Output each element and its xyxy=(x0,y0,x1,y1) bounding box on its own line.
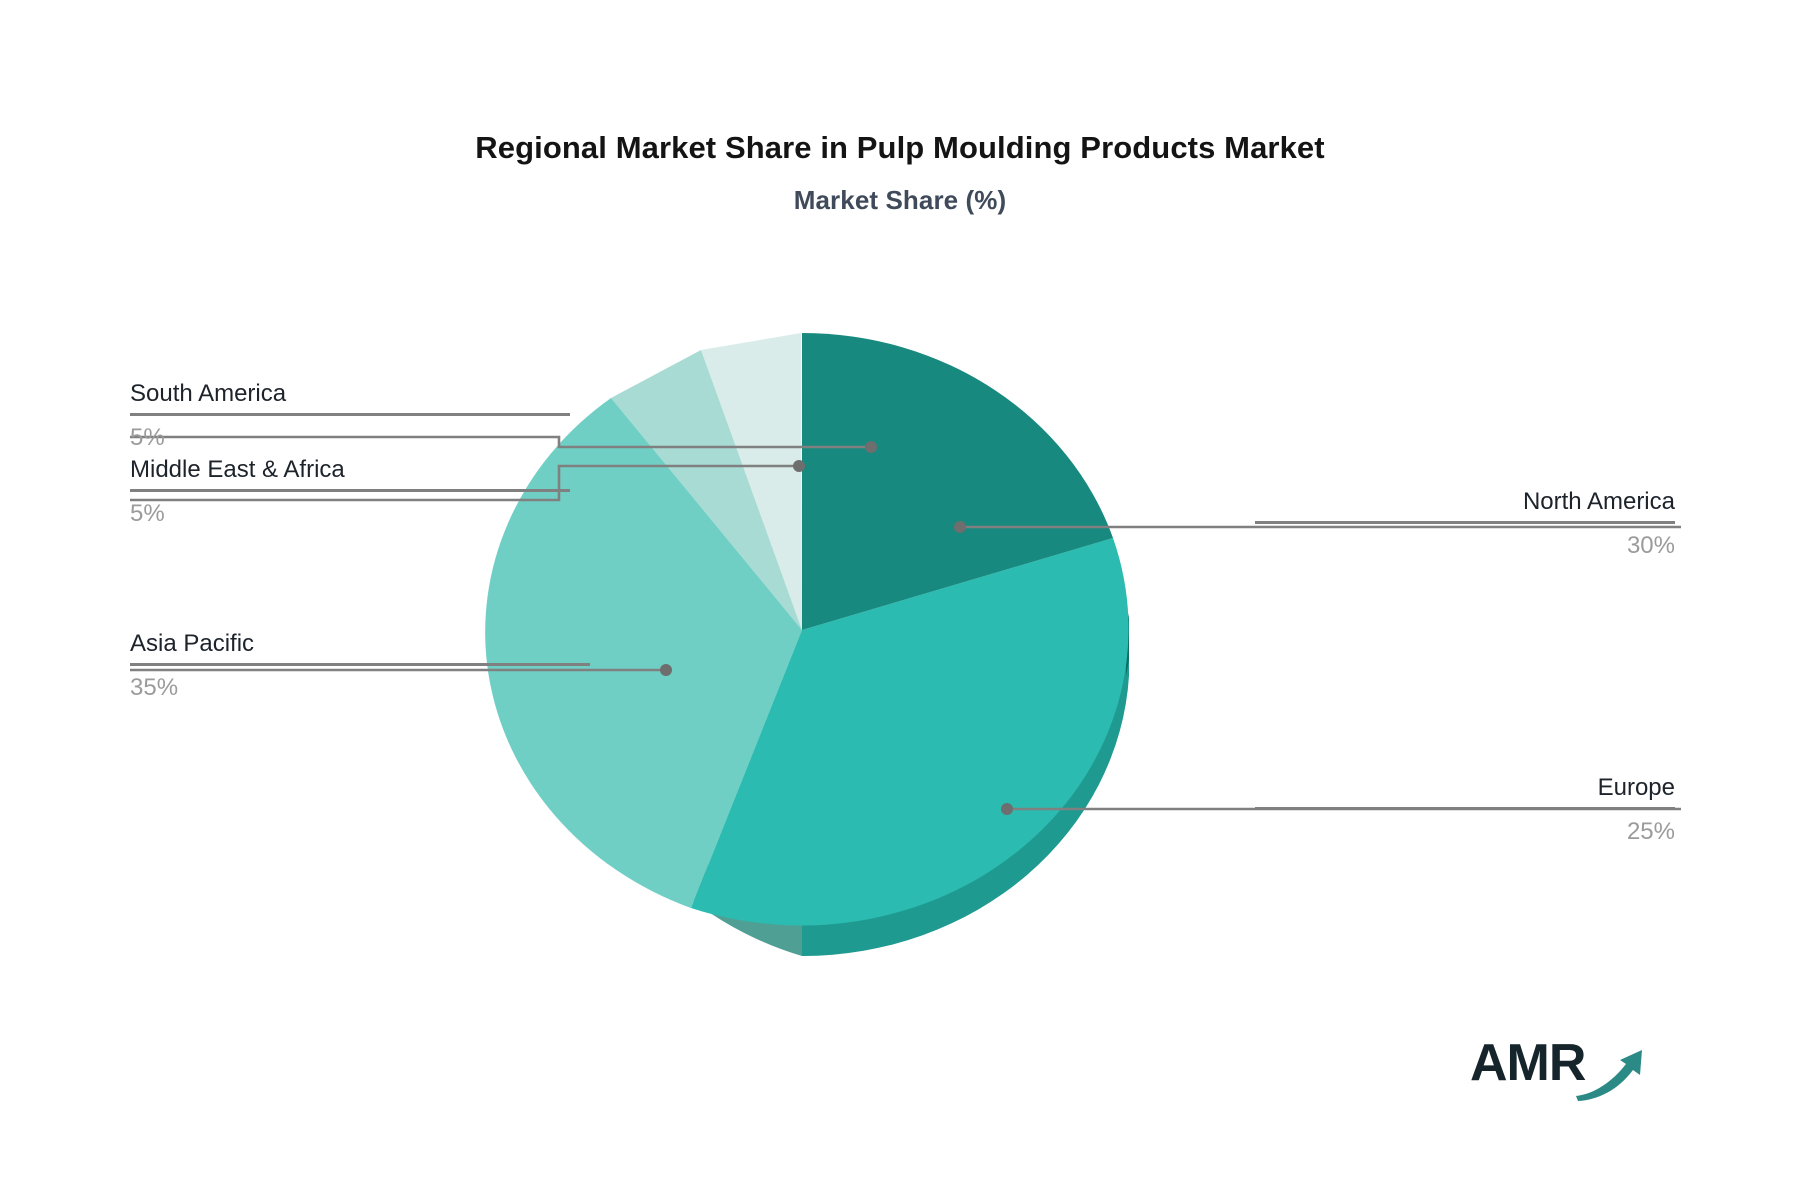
pie-slice-north-america xyxy=(802,333,1113,630)
callout-label-europe: Europe xyxy=(1255,774,1675,802)
callout-label-asia-pacific: Asia Pacific xyxy=(130,630,590,658)
callout-value-north-america: 30% xyxy=(1255,532,1675,560)
amr-logo-text: AMR xyxy=(1470,1034,1586,1092)
pie-slice-europe xyxy=(691,538,1129,925)
pie-side-asia-pacific xyxy=(577,630,802,956)
chart-canvas: Regional Market Share in Pulp Moulding P… xyxy=(0,0,1800,1196)
callout-label-south-america: South America xyxy=(130,380,570,408)
callout-rule-middle-east-africa xyxy=(130,489,570,492)
callout-europe: Europe 25% xyxy=(1255,774,1675,847)
callout-north-america: North America 30% xyxy=(1255,488,1675,561)
callout-south-america: South America 5% xyxy=(130,380,570,453)
callout-value-south-america: 5% xyxy=(130,424,570,452)
pie-slice-middle-east-africa xyxy=(611,350,802,630)
leader-dot-middle-east-africa xyxy=(793,460,805,472)
amr-logo: AMR xyxy=(1470,1030,1650,1102)
chart-subtitle: Market Share (%) xyxy=(0,185,1800,216)
callout-value-asia-pacific: 35% xyxy=(130,674,590,702)
callout-middle-east-africa: Middle East & Africa 5% xyxy=(130,456,570,529)
growth-arrow-icon xyxy=(1576,1050,1642,1101)
leader-dot-north-america xyxy=(954,521,966,533)
pie-depth-group xyxy=(577,613,1129,956)
callout-rule-south-america xyxy=(130,413,570,416)
callout-asia-pacific: Asia Pacific 35% xyxy=(130,630,590,703)
title-block: Regional Market Share in Pulp Moulding P… xyxy=(0,130,1800,216)
leader-dot-asia-pacific xyxy=(660,664,672,676)
callout-rule-north-america xyxy=(1255,521,1675,524)
pie-side-europe xyxy=(802,630,1129,956)
pie-side-north-america xyxy=(1126,613,1129,676)
callout-value-middle-east-africa: 5% xyxy=(130,500,570,528)
callout-rule-asia-pacific xyxy=(130,663,590,666)
callout-value-europe: 25% xyxy=(1255,818,1675,846)
chart-title: Regional Market Share in Pulp Moulding P… xyxy=(0,130,1800,166)
leader-dot-south-america xyxy=(865,441,877,453)
amr-logo-svg: AMR xyxy=(1470,1030,1650,1102)
callout-rule-europe xyxy=(1255,807,1675,810)
pie-slice-south-america xyxy=(701,333,802,630)
callout-label-middle-east-africa: Middle East & Africa xyxy=(130,456,570,484)
leader-dot-europe xyxy=(1001,803,1013,815)
callout-label-north-america: North America xyxy=(1255,488,1675,516)
